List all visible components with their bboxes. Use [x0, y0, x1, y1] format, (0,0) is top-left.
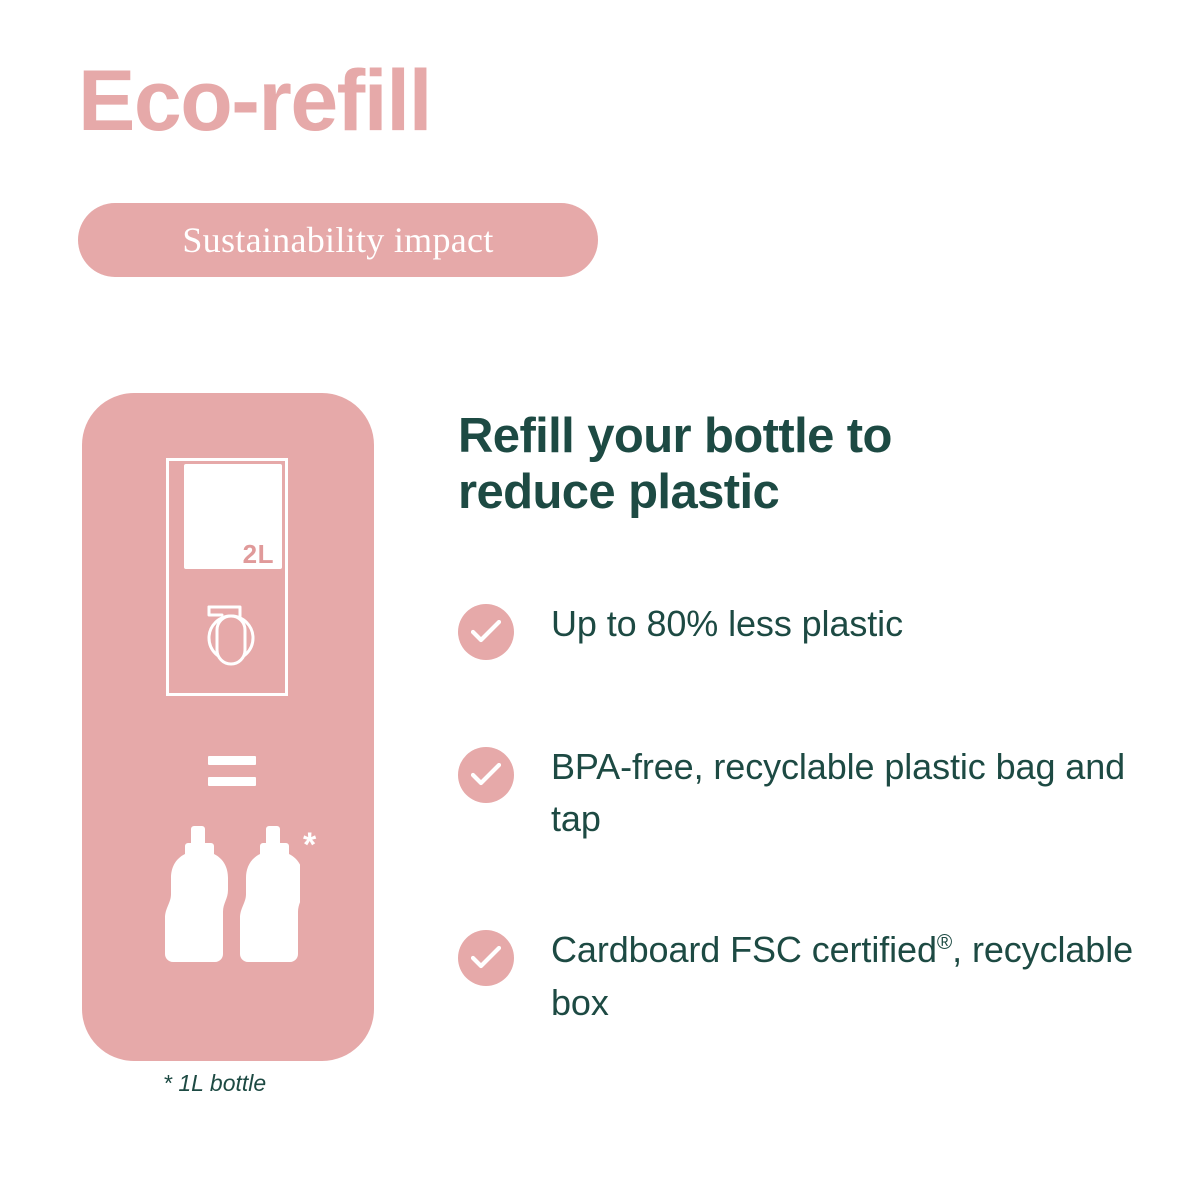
volume-label: 2L: [243, 541, 274, 567]
check-icon: [458, 747, 514, 803]
equals-bar-top: [208, 756, 256, 765]
list-item-label: BPA-free, recyclable plastic bag and tap: [551, 741, 1158, 845]
equals-symbol: [208, 756, 256, 788]
list-item-label: Up to 80% less plastic: [551, 598, 903, 650]
page-title: Eco-refill: [78, 58, 431, 144]
refill-box-label: 2L: [184, 464, 282, 569]
check-icon: [458, 604, 514, 660]
bottles-illustration: [160, 824, 300, 984]
asterisk-marker: *: [303, 828, 316, 862]
registered-trademark-symbol: ®: [937, 931, 952, 954]
equals-bar-bottom: [208, 777, 256, 786]
main-heading: Refill your bottle to reduce plastic: [458, 408, 1058, 521]
list-item-label: Cardboard FSC certified®, recyclable box: [551, 924, 1158, 1028]
eco-refill-infographic: Eco-refill Sustainability impact 2L: [0, 0, 1200, 1200]
badge-label: Sustainability impact: [182, 222, 493, 258]
list-item: BPA-free, recyclable plastic bag and tap: [458, 741, 1158, 845]
list-item: Up to 80% less plastic: [458, 598, 1158, 660]
benefits-list: Up to 80% less plastic BPA-free, recycla…: [458, 598, 1158, 1029]
sustainability-impact-badge: Sustainability impact: [78, 203, 598, 277]
tap-icon: [200, 596, 262, 668]
list-item-label-main: Cardboard FSC certified: [551, 929, 937, 970]
check-icon: [458, 930, 514, 986]
footnote-text: * 1L bottle: [163, 1072, 266, 1095]
list-item: Cardboard FSC certified®, recyclable box: [458, 924, 1158, 1028]
